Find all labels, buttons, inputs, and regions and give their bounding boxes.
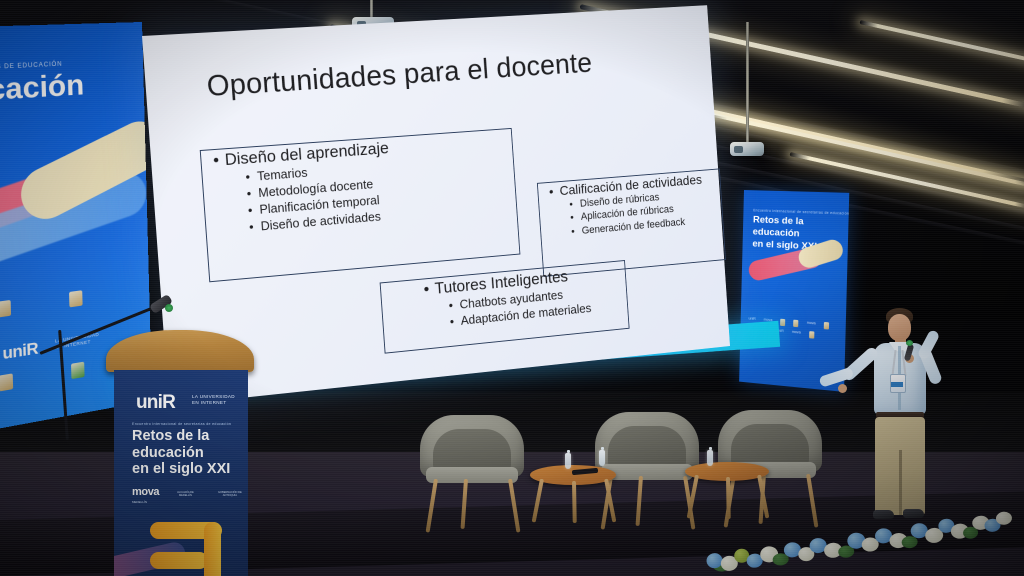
podium-brand-sub: LA UNIVERSIDAD EN INTERNET <box>192 394 235 406</box>
podium-brand-sub-line2: EN INTERNET <box>192 400 226 405</box>
podium-title-line3: en el siglo XXI <box>132 461 230 477</box>
speaker-trousers-seam <box>899 450 902 515</box>
podium-brand: uniR <box>136 392 175 414</box>
crest-logo-1: ALCALDÍA DE MEDELLÍN <box>171 490 200 497</box>
speaker-left-hand <box>838 384 847 393</box>
banner-left-title-line1: educación <box>0 69 85 112</box>
logo-mova: mova <box>807 321 816 329</box>
crest-icon <box>0 373 13 391</box>
presenter-person <box>846 300 956 538</box>
podium-title-line1: Retos de la <box>132 428 209 444</box>
banner-left-brand: uniR <box>2 340 38 364</box>
podium-kicker: Encuentro internacional de secretarías d… <box>132 422 231 426</box>
stage-armchair <box>420 415 530 535</box>
side-table <box>685 462 775 532</box>
logo-mova-text: mova <box>132 486 159 498</box>
lectern-podium: uniR LA UNIVERSIDAD EN INTERNET Encuentr… <box>112 330 248 576</box>
podium-title-line2: educación <box>132 445 204 461</box>
crest-label: ALCALDÍA DE MEDELLÍN <box>171 491 200 497</box>
crest-icon <box>780 319 785 326</box>
crest-icon <box>793 320 798 328</box>
podium-title: Retos de la educación en el siglo XXI <box>132 428 230 478</box>
conference-stage-scene: SECRETARÍAS DE EDUCACIÓN educación XXI u… <box>0 0 1024 576</box>
crest-icon <box>69 290 83 307</box>
podium-e-graphic <box>142 516 242 576</box>
water-bottle <box>707 450 713 466</box>
crest-logo-2: GOBERNACIÓN DE ANTIOQUIA <box>212 490 248 497</box>
conference-badge-band <box>891 382 903 387</box>
side-table <box>530 465 620 535</box>
crest-icon <box>809 331 814 339</box>
box-item-text: Temarios <box>257 165 308 183</box>
slide-box-aprendizaje: •Diseño del aprendizaje •Temarios •Metod… <box>200 128 521 282</box>
water-bottle <box>599 450 605 466</box>
logo-mova-sub: MEDELLÍN <box>132 500 159 504</box>
podium-brand-sub-line1: LA UNIVERSIDAD <box>192 394 235 399</box>
podium-banner-panel: uniR LA UNIVERSIDAD EN INTERNET Encuentr… <box>114 370 248 576</box>
speaker-head <box>888 314 911 341</box>
crest-icon <box>71 362 85 380</box>
microphone-windscreen <box>165 304 173 312</box>
slide-box-calificacion: •Calificación de actividades •Diseño de … <box>537 168 726 277</box>
crest-label: GOBERNACIÓN DE ANTIOQUIA <box>212 491 248 497</box>
water-bottle <box>565 453 571 469</box>
banner-right-title-line1: Retos de la educación <box>753 214 804 239</box>
podium-logo-row: mova MEDELLÍN ALCALDÍA DE MEDELLÍN GOBER… <box>132 482 248 504</box>
logo-mova: mova <box>792 330 801 338</box>
crest-icon <box>824 322 829 330</box>
slide-box-tutores: •Tutores Inteligentes •Chatbots ayudante… <box>380 260 630 354</box>
podium-wooden-top <box>106 330 254 372</box>
logo-mova: mova MEDELLÍN <box>132 482 159 504</box>
crest-icon <box>0 300 11 318</box>
slide-title: Oportunidades para el docente <box>206 47 593 104</box>
banner-left-logo-row <box>0 282 140 322</box>
microphone-windscreen <box>906 340 913 346</box>
ceiling-led-strip <box>860 20 1024 73</box>
